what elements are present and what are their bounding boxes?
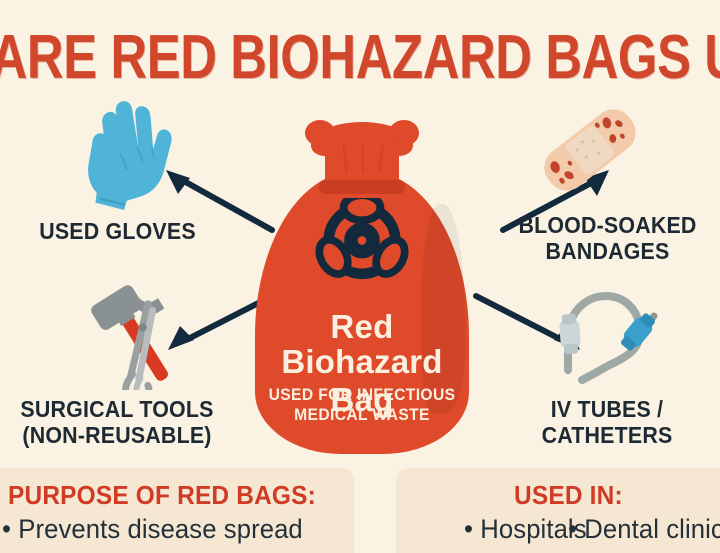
label-line2: CATHETERS xyxy=(506,422,709,448)
infographic-canvas: WHAT ARE RED BIOHAZARD BAGS USED F xyxy=(0,0,720,553)
label-iv-tubes-catheters: IV TUBES / CATHETERS xyxy=(506,396,709,448)
red-biohazard-bag: Red Biohazard Bag USED FOR INFECTIOUS ME… xyxy=(247,100,477,460)
bag-tie xyxy=(319,180,405,194)
label-surgical-tools: SURGICAL TOOLS (NON-REUSABLE) xyxy=(10,396,224,448)
label-line1: SURGICAL TOOLS xyxy=(10,396,224,422)
bag-title-line1: Red xyxy=(247,308,477,346)
purpose-panel-item: • Prevents disease spread xyxy=(2,514,303,545)
purpose-panel: PURPOSE OF RED BAGS: • Prevents disease … xyxy=(0,468,354,553)
used-in-panel: USED IN: • Hospitals • Dental clinics xyxy=(396,468,720,553)
label-line1: IV TUBES / xyxy=(506,396,709,422)
glove-icon xyxy=(60,92,190,212)
label-blood-soaked-bandages: BLOOD-SOAKED BANDAGES xyxy=(508,212,708,264)
page-title: WHAT ARE RED BIOHAZARD BAGS USED F xyxy=(0,22,720,93)
biohazard-symbol-icon xyxy=(304,198,420,310)
purpose-panel-title: PURPOSE OF RED BAGS: xyxy=(8,480,316,511)
iv-tube-icon xyxy=(552,282,672,387)
label-line2: (NON-REUSABLE) xyxy=(10,422,224,448)
used-in-panel-item: • Dental clinics xyxy=(568,514,720,545)
hammer-and-forceps-icon xyxy=(68,278,198,390)
label-line1: BLOOD-SOAKED xyxy=(508,212,708,238)
used-in-panel-title: USED IN: xyxy=(514,480,623,511)
label-used-gloves: USED GLOVES xyxy=(18,218,218,244)
label-line2: BANDAGES xyxy=(508,238,708,264)
bag-subtitle-line2: MEDICAL WASTE xyxy=(256,405,468,425)
bandage-icon xyxy=(525,95,655,205)
bag-subtitle-line1: USED FOR INFECTIOUS xyxy=(256,385,468,405)
